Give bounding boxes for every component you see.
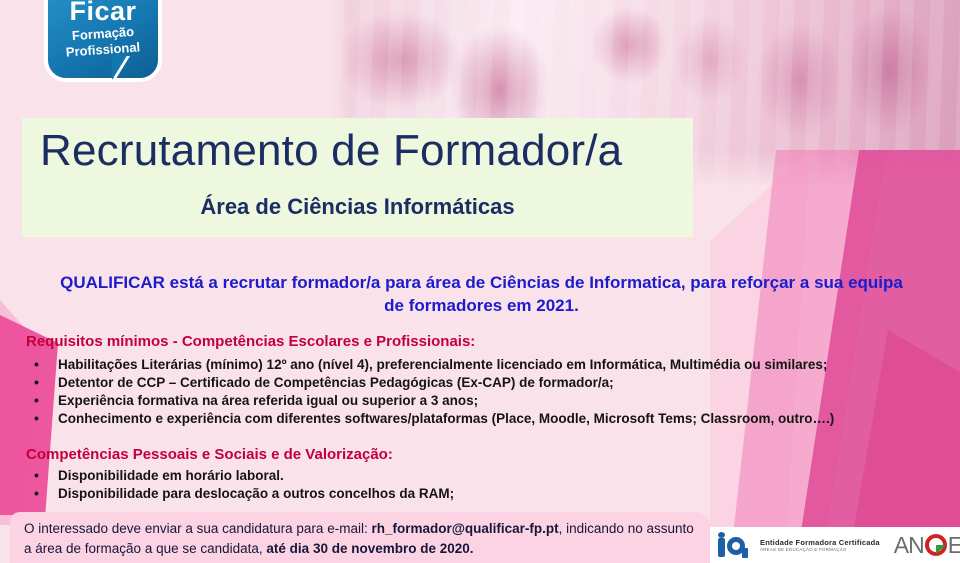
certification-subtitle: ÁREAS DE EDUCAÇÃO E FORMAÇÃO	[760, 547, 880, 552]
anqep-q-icon	[925, 534, 947, 556]
list-item: Experiência formativa na área referida i…	[10, 392, 834, 410]
section-heading-requisitos: Requisitos mínimos - Competências Escola…	[26, 333, 475, 350]
section-heading-competencias: Competências Pessoais e Sociais e de Val…	[26, 446, 393, 463]
page-subtitle: Área de Ciências Informáticas	[22, 194, 693, 220]
iq-certification-icon	[718, 532, 752, 558]
certification-title: Entidade Formadora Certificada	[760, 538, 880, 547]
competencias-list: Disponibilidade em horário laboral. Disp…	[10, 467, 454, 503]
anqep-prefix: AN	[894, 532, 924, 559]
list-item: Habilitações Literárias (mínimo) 12º ano…	[10, 356, 834, 374]
certification-text: Entidade Formadora Certificada ÁREAS DE …	[760, 538, 880, 552]
application-deadline: até dia 30 de novembro de 2020.	[266, 541, 473, 556]
qualificar-logo: Ficar Formação Profissional	[44, 0, 162, 82]
list-item: Detentor de CCP – Certificado de Competê…	[10, 374, 834, 392]
page-title: Recrutamento de Formador/a	[40, 126, 622, 176]
iq-icon-tail	[742, 548, 748, 558]
list-item: Disponibilidade para deslocação a outros…	[10, 485, 454, 503]
contact-email[interactable]: rh_formador@qualificar-fp.pt	[371, 521, 558, 536]
intro-paragraph: QUALIFICAR está a recrutar formador/a pa…	[54, 272, 909, 318]
iq-icon-stem	[718, 538, 725, 557]
certification-logos: Entidade Formadora Certificada ÁREAS DE …	[710, 527, 960, 563]
title-box: Recrutamento de Formador/a Área de Ciênc…	[22, 118, 693, 237]
footer-contact-text: O interessado deve enviar a sua candidat…	[24, 519, 696, 558]
requisitos-list: Habilitações Literárias (mínimo) 12º ano…	[10, 356, 834, 428]
footer-text-part1: O interessado deve enviar a sua candidat…	[24, 521, 371, 536]
logo-bubble-tail	[112, 54, 128, 80]
recruitment-poster: Ficar Formação Profissional Recrutamento…	[0, 0, 960, 563]
anqep-q-arrow	[936, 545, 946, 554]
anqep-suffix: EP	[948, 532, 960, 559]
anqep-logo: AN EP	[894, 532, 960, 559]
list-item: Disponibilidade em horário laboral.	[10, 467, 454, 485]
list-item: Conhecimento e experiência com diferente…	[10, 410, 834, 428]
